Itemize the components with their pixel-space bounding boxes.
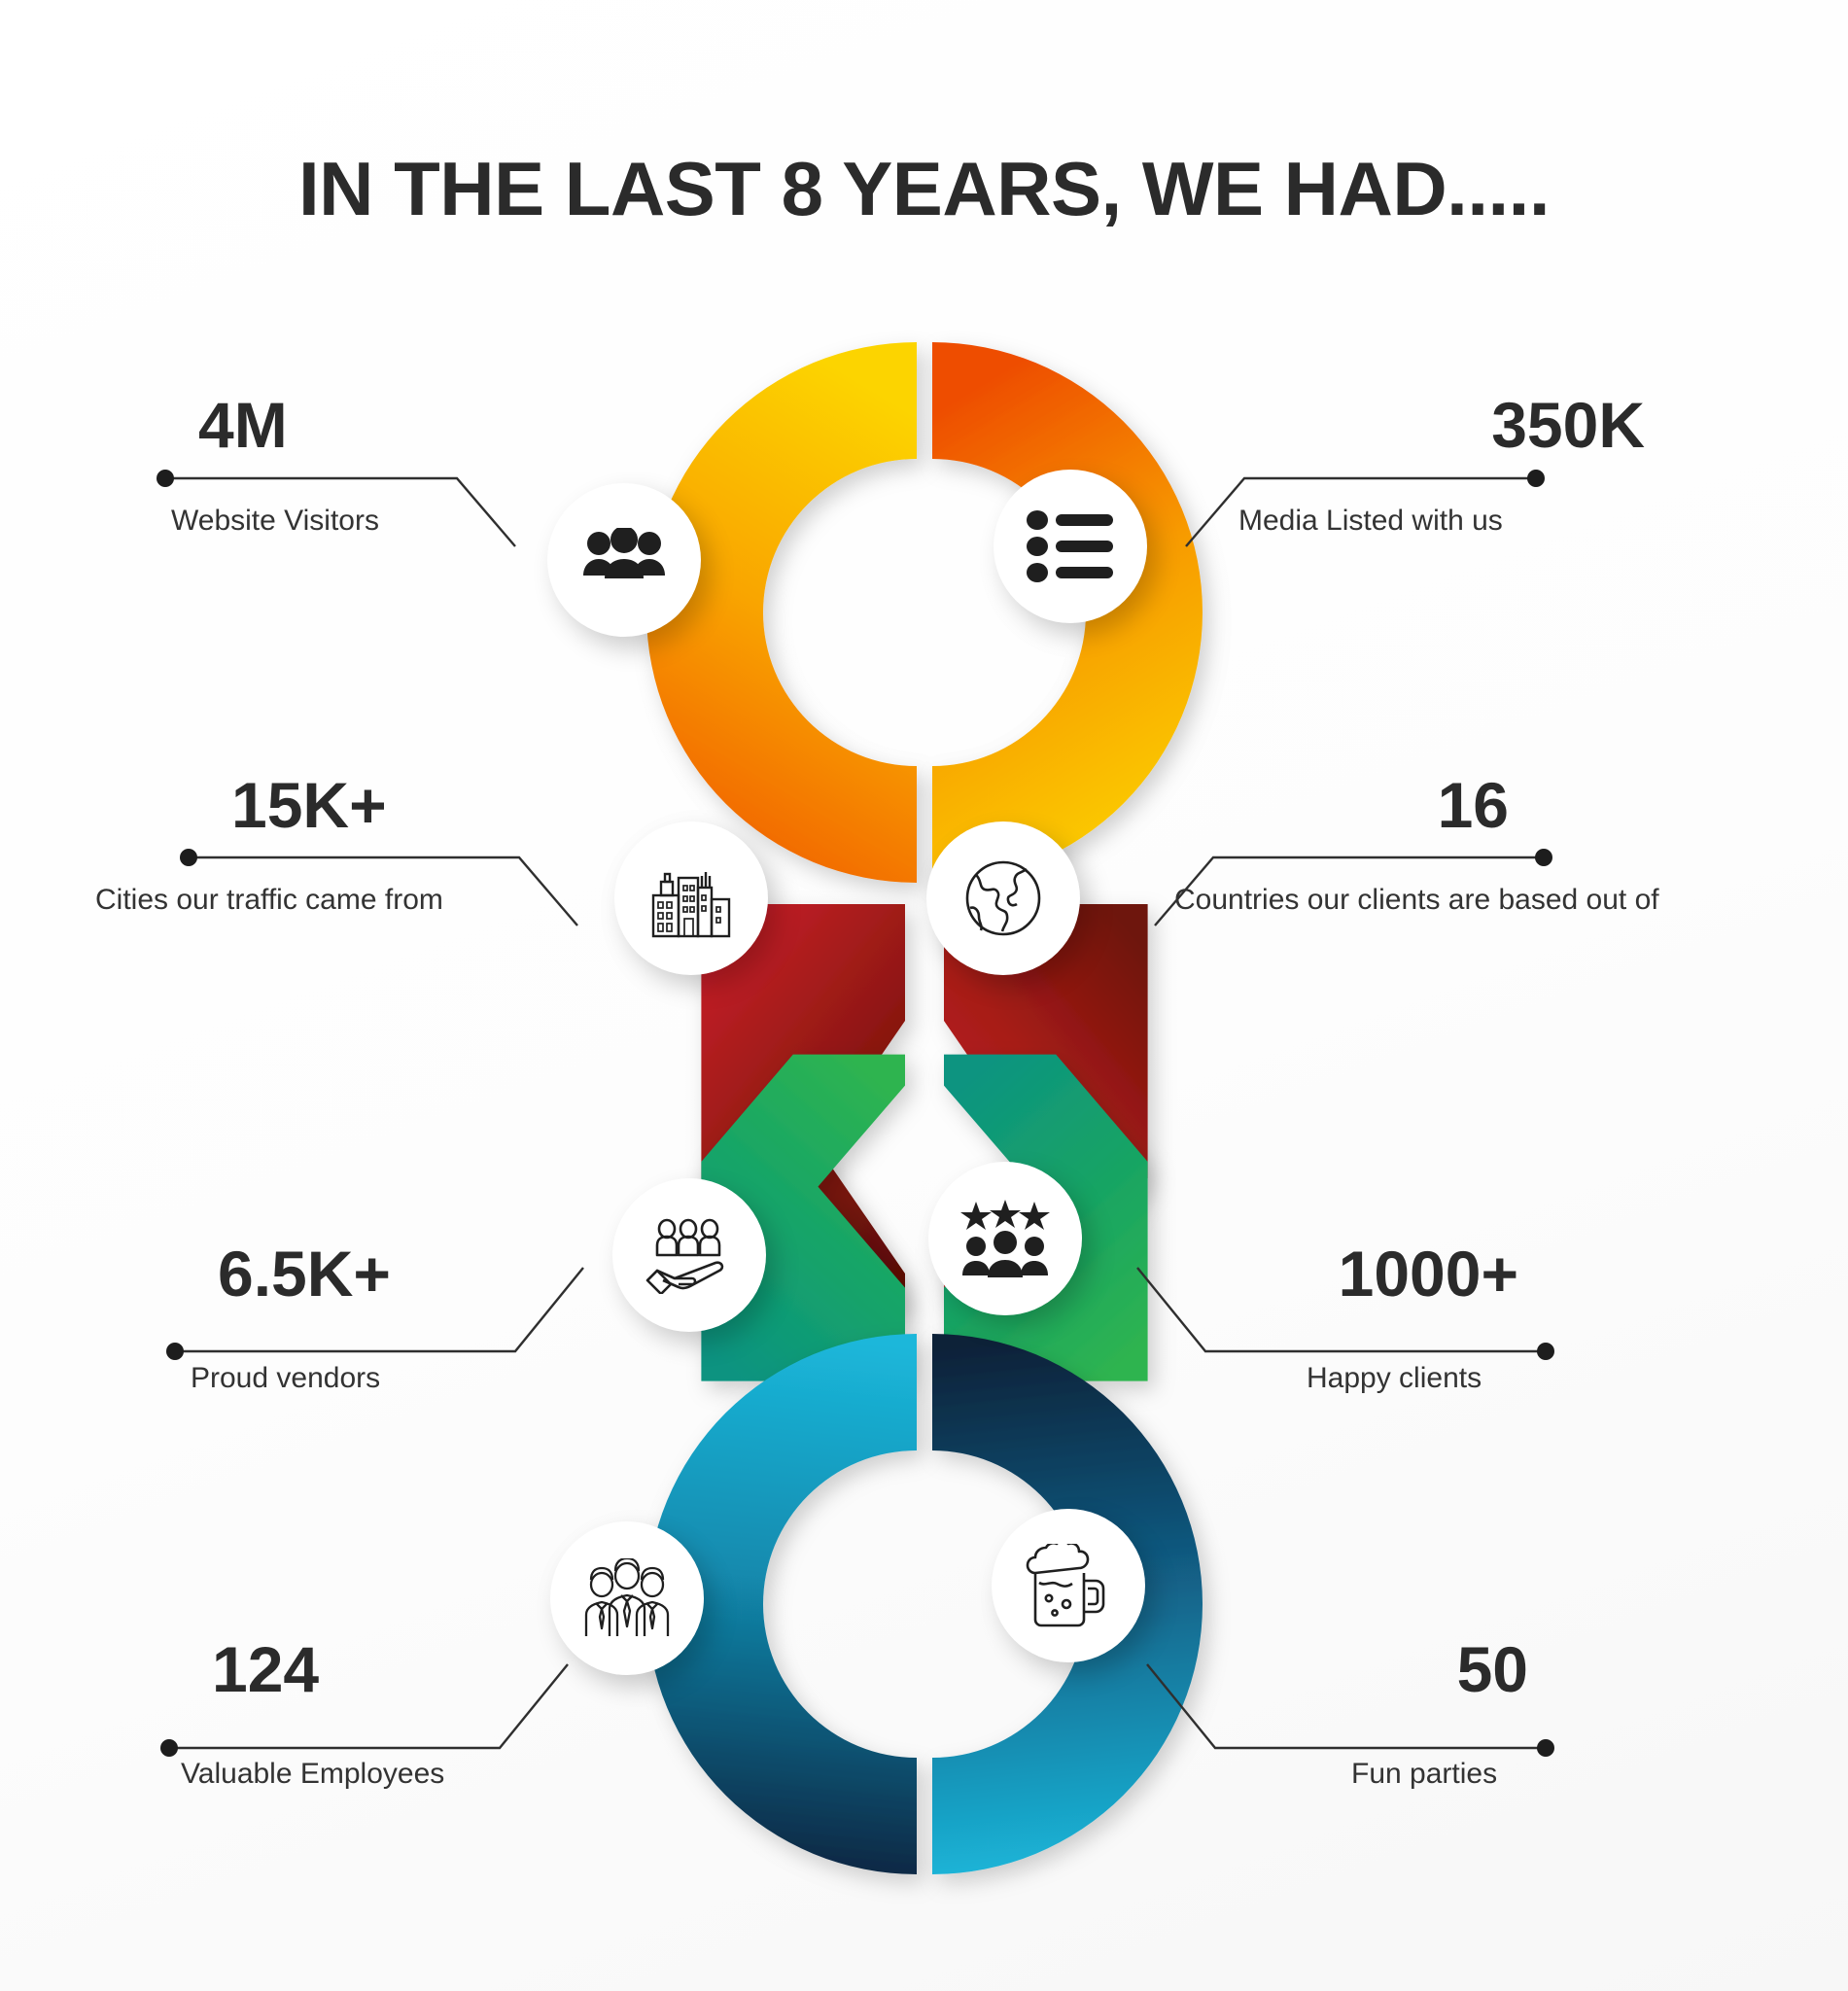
city-buildings-icon (649, 856, 733, 940)
callout-countries: 16 (1069, 773, 1536, 837)
callout-label-media-listed: Media Listed with us (1238, 499, 1783, 537)
callout-vendors: 6.5K+ (191, 1241, 638, 1306)
ring-top-left-segment (646, 342, 917, 883)
callout-website-visitors: 4M (171, 393, 599, 457)
stat-value-fun-parties: 50 (1069, 1637, 1555, 1701)
hand-holding-people-icon (645, 1216, 733, 1294)
stat-label-fun-parties: Fun parties (1351, 1758, 1798, 1790)
stat-value-countries: 16 (1069, 773, 1536, 837)
icon-bubble-countries[interactable] (926, 821, 1080, 975)
stat-value-happy-clients: 1000+ (1050, 1241, 1546, 1306)
callout-label-happy-clients: Happy clients (1307, 1356, 1754, 1394)
callout-label-vendors: Proud vendors (191, 1356, 638, 1394)
stat-value-media-listed: 350K (1069, 393, 1672, 457)
stat-label-website-visitors: Website Visitors (171, 505, 677, 537)
people-group-icon (582, 528, 666, 592)
callout-happy-clients: 1000+ (1050, 1241, 1546, 1306)
stars-people-icon (960, 1200, 1050, 1277)
stat-label-countries: Countries our clients are based out of (1174, 884, 1835, 916)
callout-label-employees: Valuable Employees (181, 1752, 667, 1790)
bullet-list-icon (1026, 510, 1115, 582)
callout-label-countries: Countries our clients are based out of (1174, 878, 1835, 916)
stat-value-cities: 15K+ (204, 773, 651, 837)
callout-cities: 15K+ (204, 773, 651, 837)
stat-value-vendors: 6.5K+ (191, 1241, 638, 1306)
callout-label-cities: Cities our traffic came from (95, 878, 640, 916)
team-suits-icon (582, 1558, 672, 1638)
stat-label-vendors: Proud vendors (191, 1362, 638, 1394)
stat-label-employees: Valuable Employees (181, 1758, 667, 1790)
page-title: IN THE LAST 8 YEARS, WE HAD..... (0, 151, 1848, 227)
stat-label-cities: Cities our traffic came from (95, 884, 640, 916)
stat-label-happy-clients: Happy clients (1307, 1362, 1754, 1394)
callout-fun-parties: 50 (1069, 1637, 1555, 1701)
icon-bubble-media-listed[interactable] (994, 470, 1147, 623)
stat-value-employees: 124 (185, 1637, 632, 1701)
callout-label-website-visitors: Website Visitors (171, 499, 677, 537)
beer-mug-icon (1026, 1544, 1111, 1627)
callout-media-listed: 350K (1069, 393, 1672, 457)
callout-label-fun-parties: Fun parties (1351, 1752, 1798, 1790)
stat-label-media-listed: Media Listed with us (1238, 505, 1783, 537)
infographic-canvas: IN THE LAST 8 YEARS, WE HAD..... (0, 0, 1848, 1991)
callout-employees: 124 (185, 1637, 632, 1701)
stat-value-website-visitors: 4M (171, 393, 599, 457)
globe-icon (962, 857, 1044, 939)
